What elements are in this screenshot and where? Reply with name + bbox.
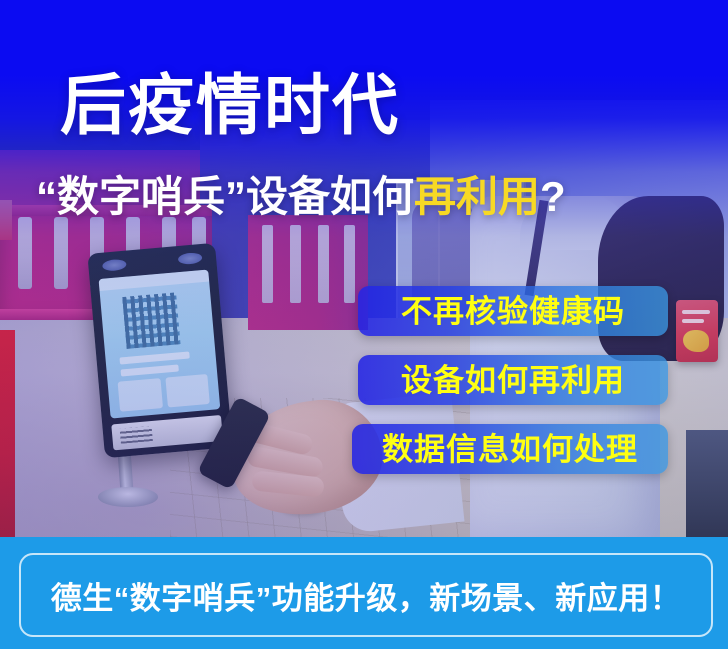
bottom-banner-text: 德生“数字哨兵”功能升级，新场景、新应用！ xyxy=(51,573,682,618)
feature-pill-1-label: 不再核验健康码 xyxy=(401,296,625,327)
poster-title-line-2: “数字哨兵”设备如何再利用? xyxy=(36,176,566,218)
feature-pill-2-label: 设备如何再利用 xyxy=(401,365,625,396)
poster-root: 后疫情时代 “数字哨兵”设备如何再利用? 不再核验健康码 设备如何再利用 数据信… xyxy=(0,0,728,649)
feature-pill-1[interactable]: 不再核验健康码 xyxy=(358,286,668,336)
bottom-banner: 德生“数字哨兵”功能升级，新场景、新应用！ xyxy=(0,537,728,649)
feature-pill-3[interactable]: 数据信息如何处理 xyxy=(352,424,668,474)
feature-pill-2[interactable]: 设备如何再利用 xyxy=(358,355,668,405)
feature-pill-3-label: 数据信息如何处理 xyxy=(382,434,638,465)
poster-title-line-1: 后疫情时代 xyxy=(60,72,400,138)
poster-title-highlight: 再利用 xyxy=(414,173,540,220)
feature-pill-list: 不再核验健康码 设备如何再利用 数据信息如何处理 xyxy=(358,286,668,474)
poster-title-question-mark: ? xyxy=(540,173,566,220)
bottom-banner-frame: 德生“数字哨兵”功能升级，新场景、新应用！ xyxy=(19,553,713,637)
poster-title-line-2-prefix: “数字哨兵”设备如何 xyxy=(36,173,414,220)
